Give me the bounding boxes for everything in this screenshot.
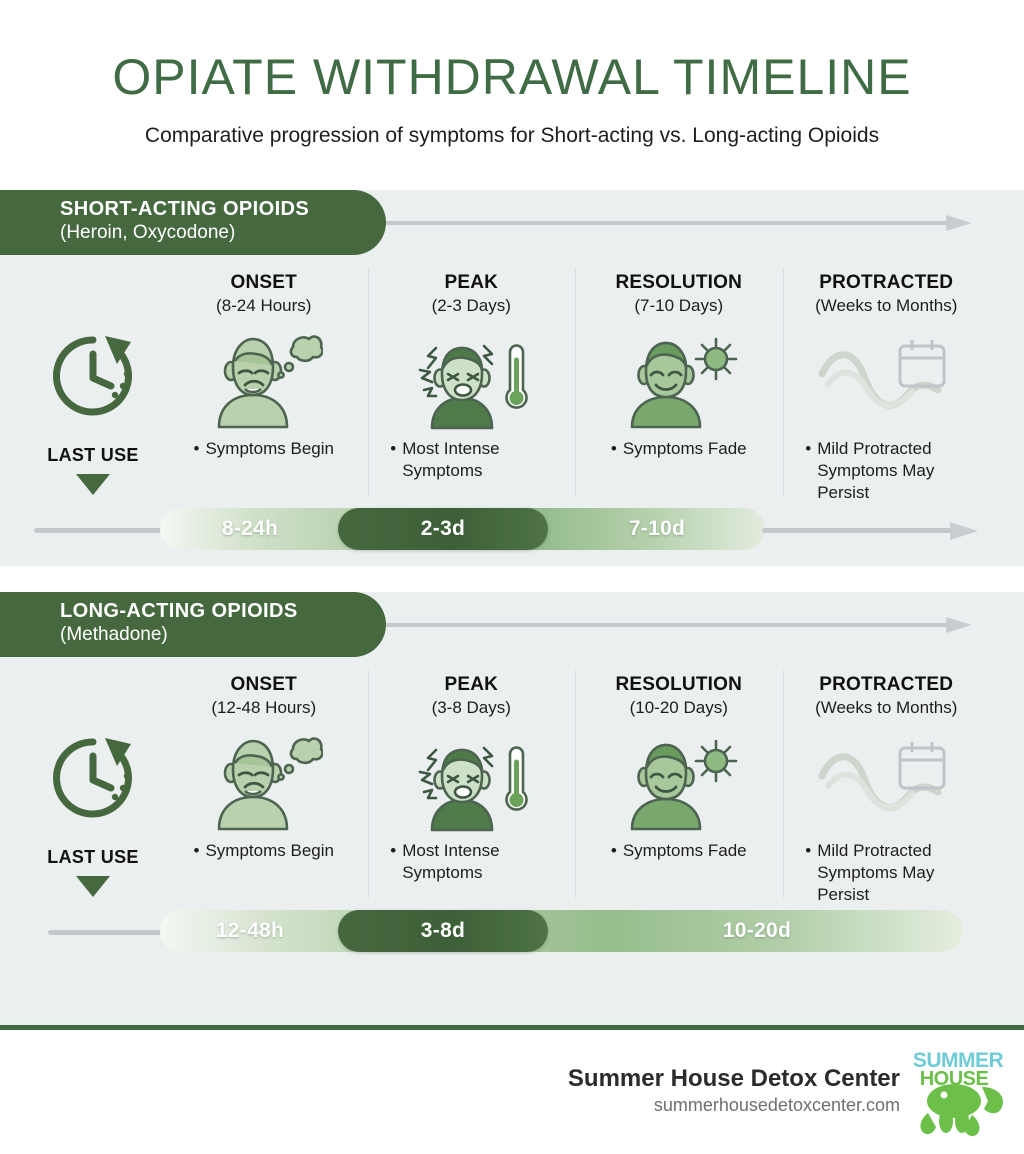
stage-icon-wrap	[166, 730, 362, 834]
stage-protracted: PROTRACTED (Weeks to Months) •	[783, 272, 991, 502]
stage-bullet: • Mild Protracted Symptoms May Persist	[789, 840, 985, 905]
stage-icon-wrap	[789, 328, 985, 432]
page-subtitle: Comparative progression of symptoms for …	[0, 124, 1024, 148]
bullet-dot-icon: •	[611, 438, 617, 460]
timeline-segment-onset: 8-24h	[160, 508, 340, 550]
timeline-segment-resolution: 10-20d	[552, 910, 962, 952]
stage-resolution: RESOLUTION (7-10 Days)	[575, 272, 783, 502]
happy-face-sun-icon	[618, 331, 740, 429]
stage-duration: (2-3 Days)	[374, 296, 570, 316]
stage-bullet-text: Symptoms Fade	[623, 438, 747, 460]
stage-title: ONSET	[166, 674, 362, 696]
stage-title: PEAK	[374, 674, 570, 696]
timeline-track: 8-24h 2-3d 7-10d	[160, 508, 765, 550]
stage-bullet: • Symptoms Begin	[166, 438, 362, 460]
stage-protracted: PROTRACTED (Weeks to Months) •	[783, 674, 991, 904]
timeline-segment-label: 12-48h	[216, 919, 284, 943]
bullet-dot-icon: •	[805, 840, 811, 905]
stage-title: PROTRACTED	[789, 272, 985, 294]
stage-icon-wrap	[789, 730, 985, 834]
stage-title: PEAK	[374, 272, 570, 294]
stage-bullet: • Symptoms Fade	[581, 840, 777, 862]
stage-duration: (8-24 Hours)	[166, 296, 362, 316]
thermometer-sub-icon	[507, 346, 527, 408]
stage-duration: (7-10 Days)	[581, 296, 777, 316]
clock-rewind-icon	[47, 732, 139, 824]
stage-peak: PEAK (3-8 Days)	[368, 674, 576, 904]
stage-title: RESOLUTION	[581, 674, 777, 696]
last-use-caret-icon	[76, 474, 110, 495]
happy-face-sun-icon	[618, 733, 740, 831]
timeline-end-arrow-icon	[950, 520, 980, 542]
timeline-segment-label: 10-20d	[723, 919, 791, 943]
stage-onset: ONSET (12-48 Hours)	[160, 674, 368, 904]
timeline-segment-label: 8-24h	[222, 517, 278, 541]
stage-bullet: • Most Intense Symptoms	[374, 840, 570, 884]
stage-icon-wrap	[581, 328, 777, 432]
thermometer-sub-icon	[507, 748, 527, 810]
frog-logo-icon: SUMMER HOUSE	[906, 1043, 1010, 1139]
stage-title: ONSET	[166, 272, 362, 294]
section-long-acting: LONG-ACTING OPIOIDS (Methadone) LAST USE…	[0, 592, 1024, 1025]
stage-list-long: ONSET (12-48 Hours)	[160, 674, 990, 904]
distressed-face-thermometer-icon	[406, 732, 536, 832]
timeline-segment-onset: 12-48h	[160, 910, 340, 952]
stage-bullet-text: Mild Protracted Symptoms May Persist	[817, 438, 967, 503]
section-header-subtitle: (Methadone)	[60, 624, 386, 647]
bullet-dot-icon: •	[390, 840, 396, 884]
last-use-marker-short: LAST USE	[28, 330, 158, 495]
stage-bullet-text: Symptoms Fade	[623, 840, 747, 862]
last-use-label: LAST USE	[28, 847, 158, 868]
stage-bullet: • Symptoms Fade	[581, 438, 777, 460]
stage-icon-wrap	[374, 328, 570, 432]
wave-calendar-icon	[816, 734, 956, 830]
stage-icon-wrap	[374, 730, 570, 834]
stage-duration: (12-48 Hours)	[166, 698, 362, 718]
sun-sub-icon	[696, 339, 736, 379]
stage-bullet: • Symptoms Begin	[166, 840, 362, 862]
section-header-short-acting: SHORT-ACTING OPIOIDS (Heroin, Oxycodone)	[0, 190, 386, 255]
stage-duration: (10-20 Days)	[581, 698, 777, 718]
section-header-title: LONG-ACTING OPIOIDS	[60, 600, 386, 623]
sad-face-thought-cloud-icon	[205, 733, 323, 831]
stage-icon-wrap	[581, 730, 777, 834]
calendar-sub-icon	[900, 742, 944, 788]
page-title: OPIATE WITHDRAWAL TIMELINE	[0, 48, 1024, 106]
stage-list-short: ONSET (8-24 Hours)	[160, 272, 990, 502]
calendar-sub-icon	[900, 340, 944, 386]
timeline-segment-label: 2-3d	[421, 517, 465, 541]
last-use-caret-icon	[76, 876, 110, 897]
infographic-page: OPIATE WITHDRAWAL TIMELINE Comparative p…	[0, 0, 1024, 1154]
section-short-acting: SHORT-ACTING OPIOIDS (Heroin, Oxycodone)…	[0, 190, 1024, 566]
footer-organization: Summer House Detox Center	[568, 1065, 900, 1093]
wave-calendar-icon	[816, 332, 956, 428]
stage-bullet-text: Mild Protracted Symptoms May Persist	[817, 840, 967, 905]
distressed-face-thermometer-icon	[406, 330, 536, 430]
stage-peak: PEAK (2-3 Days)	[368, 272, 576, 502]
bullet-dot-icon: •	[194, 840, 200, 862]
timeline-segment-peak: 2-3d	[338, 508, 548, 550]
last-use-label: LAST USE	[28, 445, 158, 466]
stage-duration: (Weeks to Months)	[789, 698, 985, 718]
stage-icon-wrap	[166, 328, 362, 432]
bullet-dot-icon: •	[390, 438, 396, 482]
timeline-short: 8-24h 2-3d 7-10d	[0, 508, 1024, 554]
section-header-title: SHORT-ACTING OPIOIDS	[60, 198, 386, 221]
sad-face-thought-cloud-icon	[205, 331, 323, 429]
section-progress-arrow	[386, 616, 976, 634]
bullet-dot-icon: •	[611, 840, 617, 862]
timeline-long: 12-48h 3-8d 10-20d	[0, 910, 1024, 956]
bullet-dot-icon: •	[194, 438, 200, 460]
stage-bullet-text: Symptoms Begin	[205, 438, 334, 460]
timeline-tail-line	[762, 528, 962, 533]
section-progress-arrow	[386, 214, 976, 232]
stage-title: RESOLUTION	[581, 272, 777, 294]
sun-sub-icon	[696, 741, 736, 781]
clock-rewind-icon	[47, 330, 139, 422]
timeline-track: 12-48h 3-8d 10-20d	[160, 910, 963, 952]
stage-bullet: • Mild Protracted Symptoms May Persist	[789, 438, 985, 503]
stage-duration: (Weeks to Months)	[789, 296, 985, 316]
stage-bullet-text: Symptoms Begin	[205, 840, 334, 862]
timeline-lead-line	[34, 528, 174, 533]
bullet-dot-icon: •	[805, 438, 811, 503]
stage-resolution: RESOLUTION (10-20 Days)	[575, 674, 783, 904]
stage-bullet: • Most Intense Symptoms	[374, 438, 570, 482]
stage-bullet-text: Most Intense Symptoms	[402, 840, 552, 884]
stage-duration: (3-8 Days)	[374, 698, 570, 718]
footer-website[interactable]: summerhousedetoxcenter.com	[654, 1095, 900, 1116]
timeline-segment-resolution: 7-10d	[552, 508, 762, 550]
timeline-segment-label: 7-10d	[629, 517, 685, 541]
section-header-subtitle: (Heroin, Oxycodone)	[60, 222, 386, 245]
stage-onset: ONSET (8-24 Hours)	[160, 272, 368, 502]
section-header-long-acting: LONG-ACTING OPIOIDS (Methadone)	[0, 592, 386, 657]
timeline-segment-peak: 3-8d	[338, 910, 548, 952]
timeline-lead-line	[48, 930, 174, 935]
timeline-segment-label: 3-8d	[421, 919, 465, 943]
last-use-marker-long: LAST USE	[28, 732, 158, 897]
stage-title: PROTRACTED	[789, 674, 985, 696]
stage-bullet-text: Most Intense Symptoms	[402, 438, 552, 482]
footer: Summer House Detox Center summerhousedet…	[0, 1025, 1024, 1154]
